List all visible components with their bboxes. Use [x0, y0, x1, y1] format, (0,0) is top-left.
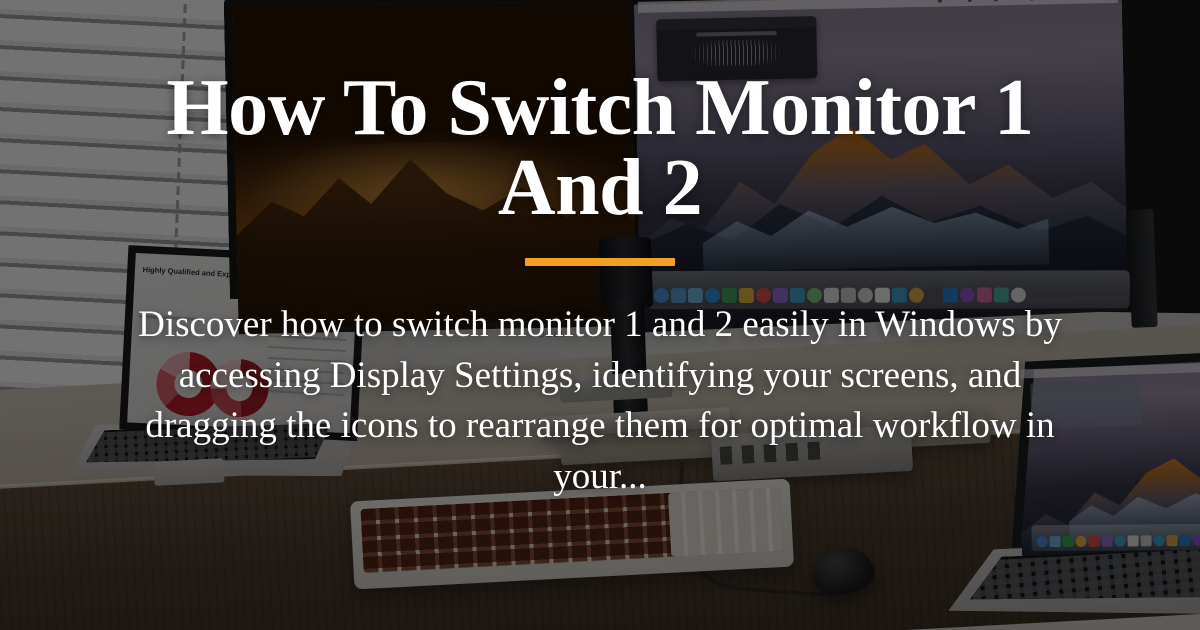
social-share-card: Highly Qualified and Experienced R&D Tea…	[0, 0, 1200, 630]
card-content: How To Switch Monitor 1 And 2 Discover h…	[0, 0, 1200, 630]
card-title: How To Switch Monitor 1 And 2	[90, 68, 1110, 228]
accent-divider	[525, 258, 675, 266]
card-subtitle: Discover how to switch monitor 1 and 2 e…	[110, 300, 1090, 503]
